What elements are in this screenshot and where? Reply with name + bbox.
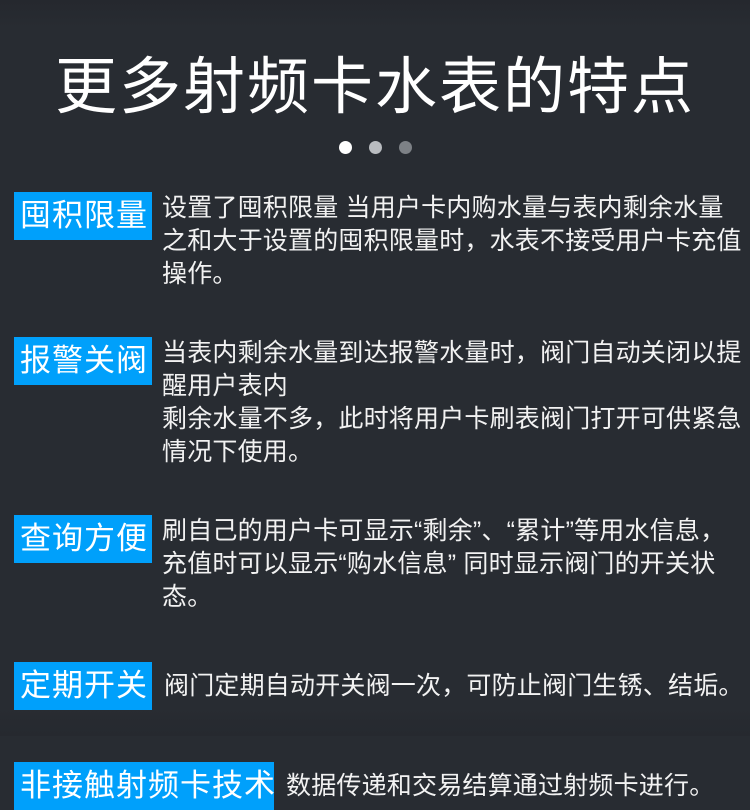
feature-badge-periodic-switch: 定期开关 [14,662,152,710]
feature-list: 囤积限量 设置了囤积限量 当用户卡内购水量与表内剩余水量 之和大于设置的囤积限量… [0,192,750,810]
carousel-dots [0,140,750,154]
page-header: 更多射频卡水表的特点 [0,0,750,154]
page-title: 更多射频卡水表的特点 [0,52,750,124]
carousel-dot-2[interactable] [369,141,382,154]
carousel-dot-3[interactable] [399,141,412,154]
feature-row: 定期开关 阀门定期自动开关阀一次，可防止阀门生锈、结垢。 [14,662,750,710]
feature-badge-easy-query: 查询方便 [14,515,152,563]
feature-badge-alarm-valve-close: 报警关阀 [14,337,152,385]
feature-row: 囤积限量 设置了囤积限量 当用户卡内购水量与表内剩余水量 之和大于设置的囤积限量… [14,192,750,291]
feature-row: 报警关阀 当表内剩余水量到达报警水量时，阀门自动关闭以提醒用户表内 剩余水量不多… [14,337,750,469]
feature-row: 非接触射频卡技术 数据传递和交易结算通过射频卡进行。 [14,762,750,810]
feature-description: 数据传递和交易结算通过射频卡进行。 [286,770,750,803]
feature-description: 阀门定期自动开关阀一次，可防止阀门生锈、结垢。 [164,670,750,703]
feature-badge-hoarding-limit: 囤积限量 [14,192,152,240]
feature-badge-contactless-rf-card: 非接触射频卡技术 [14,762,274,810]
promo-page: 更多射频卡水表的特点 囤积限量 设置了囤积限量 当用户卡内购水量与表内剩余水量 … [0,0,750,736]
feature-description: 设置了囤积限量 当用户卡内购水量与表内剩余水量 之和大于设置的囤积限量时，水表不… [162,192,750,291]
carousel-dot-1[interactable] [339,141,352,154]
feature-description: 刷自己的用户卡可显示“剩余”、“累计”等用水信息， 充值时可以显示“购水信息” … [162,515,750,614]
feature-row: 查询方便 刷自己的用户卡可显示“剩余”、“累计”等用水信息， 充值时可以显示“购… [14,515,750,614]
feature-description: 当表内剩余水量到达报警水量时，阀门自动关闭以提醒用户表内 剩余水量不多，此时将用… [162,337,750,469]
